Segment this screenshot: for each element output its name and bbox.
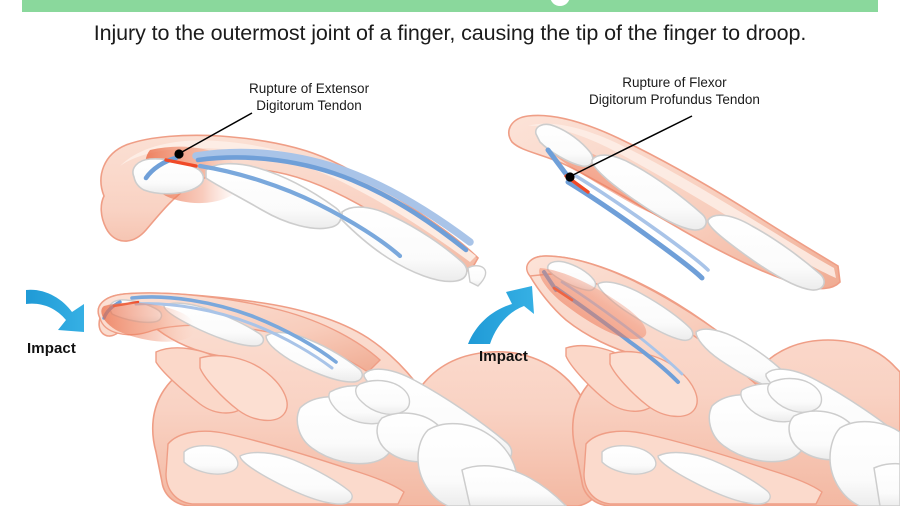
illustration-page: Injury to the outermost joint of a finge… (0, 0, 900, 506)
bone-metacarpal-top-left (468, 266, 486, 286)
impact-label-left: Impact (27, 340, 76, 357)
panel-bottom-left-hand-impact (26, 290, 601, 506)
annotation-extensor-line2: Digitorum Tendon (249, 97, 369, 114)
leader-marker-extensor (174, 149, 183, 158)
medical-illustration-svg (0, 0, 900, 506)
annotation-label-flexor: Rupture of Flexor Digitorum Profundus Te… (589, 74, 760, 108)
impact-label-right: Impact (479, 348, 528, 365)
annotation-extensor-line1: Rupture of Extensor (249, 80, 369, 97)
impact-arrow-left[interactable] (26, 290, 84, 332)
annotation-flexor-line1: Rupture of Flexor (589, 74, 760, 91)
leader-marker-flexor (565, 172, 574, 181)
annotation-label-extensor: Rupture of Extensor Digitorum Tendon (249, 80, 369, 114)
annotation-flexor-line2: Digitorum Profundus Tendon (589, 91, 760, 108)
impact-arrow-right[interactable] (468, 286, 534, 344)
panel-top-left-extensor-rupture (101, 113, 486, 286)
